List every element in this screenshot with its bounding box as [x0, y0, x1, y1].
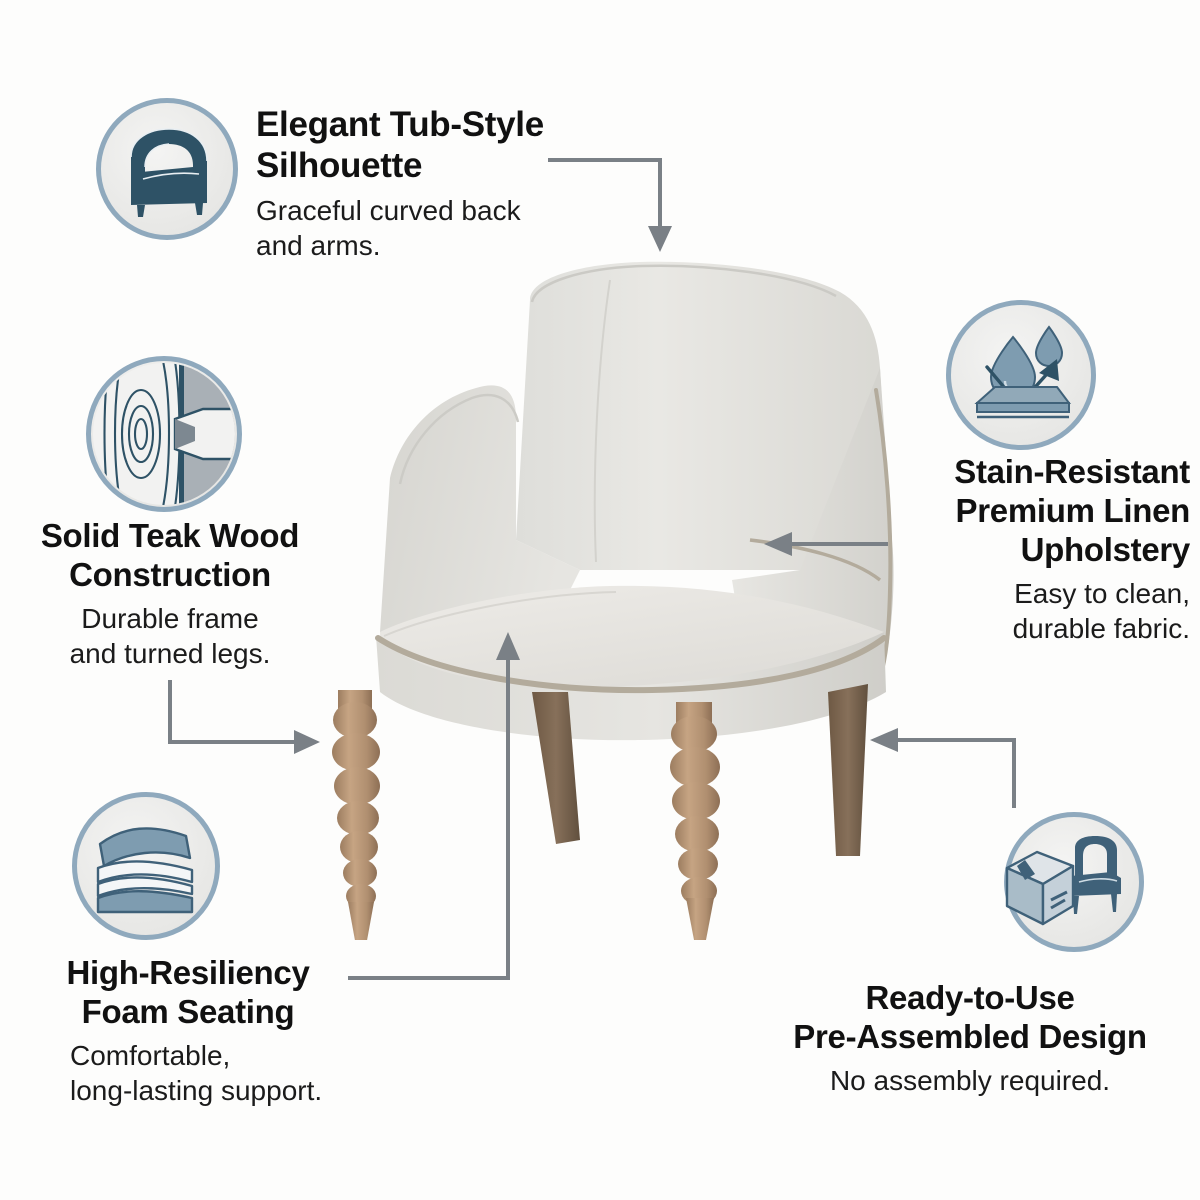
pre-assembled-subline: No assembly required. — [760, 1063, 1180, 1098]
callout-tub-style: Elegant Tub-Style Silhouette Graceful cu… — [256, 104, 586, 263]
callout-teak-wood: Solid Teak Wood Construction Durable fra… — [10, 516, 330, 671]
foam-layers-icon — [72, 792, 220, 940]
foam-seating-subline: Comfortable, long-lasting support. — [28, 1038, 348, 1108]
package-and-chair-icon — [1004, 812, 1144, 952]
teak-wood-subline: Durable frame and turned legs. — [10, 601, 330, 671]
infographic-canvas: Elegant Tub-Style Silhouette Graceful cu… — [0, 0, 1200, 1200]
product-image-armchair — [280, 240, 920, 940]
wood-grain-joint-icon — [86, 356, 242, 512]
water-repellent-surface-icon — [946, 300, 1096, 450]
tub-style-subline: Graceful curved back and arms. — [256, 193, 586, 263]
pre-assembled-headline: Ready-to-Use Pre-Assembled Design — [760, 978, 1180, 1056]
tub-style-headline: Elegant Tub-Style Silhouette — [256, 104, 586, 186]
callout-foam-seating: High-Resiliency Foam Seating Comfortable… — [28, 953, 348, 1108]
stain-resistant-subline: Easy to clean, durable fabric. — [860, 576, 1190, 646]
teak-wood-headline: Solid Teak Wood Construction — [10, 516, 330, 594]
stain-resistant-headline: Stain-Resistant Premium Linen Upholstery — [860, 452, 1190, 569]
callout-pre-assembled: Ready-to-Use Pre-Assembled Design No ass… — [760, 978, 1180, 1098]
callout-stain-resistant: Stain-Resistant Premium Linen Upholstery… — [860, 452, 1190, 646]
tub-chair-icon — [96, 98, 238, 240]
foam-seating-headline: High-Resiliency Foam Seating — [28, 953, 348, 1031]
